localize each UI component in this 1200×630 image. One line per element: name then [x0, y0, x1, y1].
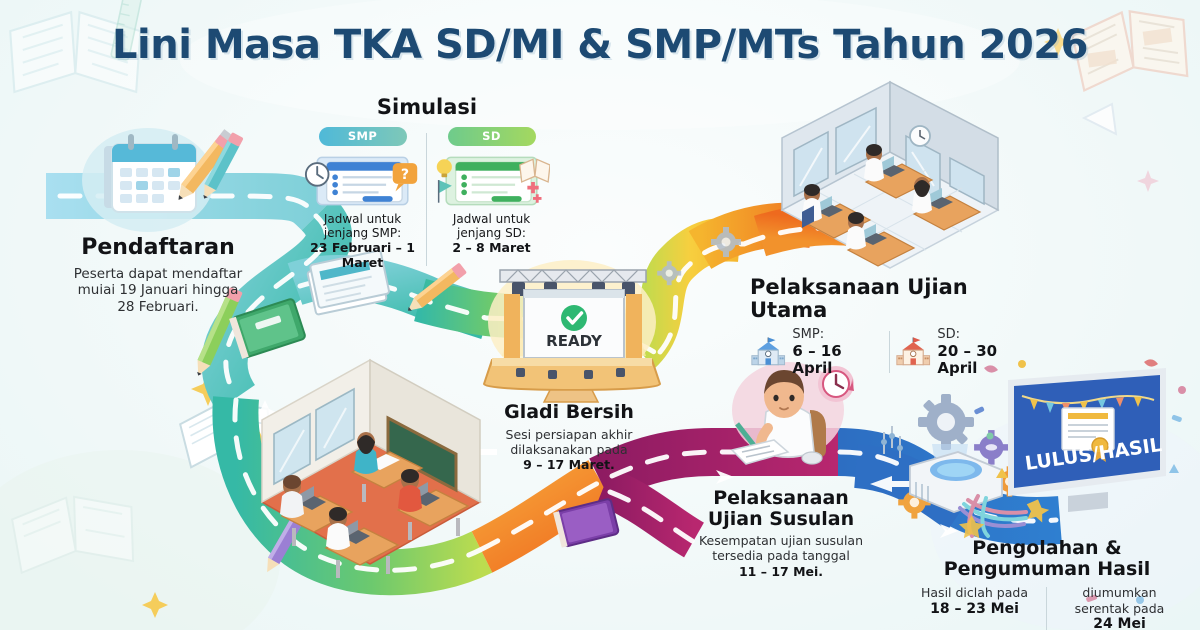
hasil-left-caption: Hasil diclah pada — [921, 585, 1028, 600]
gear-icon — [657, 227, 741, 285]
hasil-heading-line-2: Pengumuman Hasil — [944, 558, 1151, 580]
pendaftaran-line-1: Peserta dapat mendaftar — [74, 266, 242, 282]
svg-text:LULUS/HASIL: LULUS/HASIL — [1024, 434, 1164, 475]
clock-icon — [306, 163, 329, 186]
pencil-icon — [262, 508, 308, 575]
data-processing-illustration — [881, 394, 1026, 536]
gear-icon — [898, 486, 930, 518]
hasil-right-caption-line-1: diumumkan — [1082, 585, 1156, 600]
utama-heading: Pelaksanaan Ujian Utama — [750, 276, 1050, 321]
utama-sd-label: SD: 20 – 30 April — [937, 328, 1038, 376]
gladi-heading: Gladi Bersih — [474, 402, 664, 423]
hasil-heading-line-1: Pengolahan & — [972, 537, 1121, 559]
simulasi-cards: SMP — [298, 127, 556, 271]
utama-items: SMP: 6 – 16 April — [750, 328, 1050, 376]
section-ujian-utama: Pelaksanaan Ujian Utama SMP: — [750, 276, 1050, 376]
gear-icon — [918, 394, 974, 450]
hasil-right-date: 24 Mei — [1093, 616, 1146, 630]
hasil-left-date: 18 – 23 Mei — [930, 601, 1019, 617]
susulan-date: 11 – 17 Mei. — [739, 564, 823, 579]
hasil-right: diumumkan serentak pada 24 Mei — [1047, 585, 1192, 630]
smp-caption-line-2: jenjang SMP: — [324, 226, 401, 240]
sd-caption-line-1: Jadwal untuk — [453, 212, 530, 226]
susulan-heading-line-1: Pelaksanaan — [713, 487, 849, 509]
section-pengolahan-hasil: Pengolahan & Pengumuman Hasil Hasil dicl… — [902, 538, 1192, 630]
pencil-icon — [404, 262, 467, 315]
hasil-details: Hasil diclah pada 18 – 23 Mei diumumkan … — [902, 585, 1192, 630]
exam-room-illustration — [782, 82, 998, 268]
pendaftaran-heading: Pendaftaran — [34, 236, 282, 260]
smp-caption-line-1: Jadwal untuk — [324, 212, 401, 226]
simulasi-smp-illustration: ? — [304, 152, 421, 208]
gear-icon — [974, 430, 1009, 465]
utama-item-sd: SD: 20 – 30 April — [895, 328, 1050, 376]
simulasi-card-smp: SMP — [298, 127, 427, 271]
sd-caption-line-2: jenjang SD: — [457, 226, 526, 240]
pendaftaran-line-3: 28 Februari. — [117, 299, 198, 315]
badge-sd: SD — [448, 127, 536, 146]
simulasi-sd-illustration — [433, 152, 550, 208]
svg-text:?: ? — [401, 167, 409, 183]
school-building-icon — [895, 335, 931, 369]
smp-date: 23 Februari – 1 Maret — [304, 240, 421, 270]
student-writing-illustration — [732, 362, 854, 464]
simulasi-card-sd: SD — [427, 127, 556, 256]
susulan-heading: Pelaksanaan Ujian Susulan — [672, 488, 890, 529]
utama-smp-label: SMP: 6 – 16 April — [792, 328, 883, 376]
hasil-right-caption-line-2: serentak pada — [1075, 601, 1165, 616]
simulasi-heading: Simulasi — [298, 96, 556, 119]
hasil-heading: Pengolahan & Pengumuman Hasil — [902, 538, 1192, 579]
hasil-left: Hasil diclah pada 18 – 23 Mei — [902, 585, 1047, 630]
sd-date: 2 – 8 Maret — [433, 240, 550, 255]
pendaftaran-description: Peserta dapat mendaftar muiai 19 Januari… — [34, 266, 282, 315]
section-gladi-bersih: Gladi Bersih Sesi persiapan akhir dilaks… — [474, 402, 664, 472]
stage-illustration: READY — [484, 260, 660, 402]
result-monitor-illustration: LULUS/HASIL — [974, 359, 1186, 522]
pendaftaran-line-2: muiai 19 Januari hingga — [78, 282, 239, 298]
open-book-icon — [178, 396, 275, 468]
open-book-icon — [10, 491, 137, 573]
gladi-date: 9 – 17 Maret. — [523, 457, 615, 472]
classroom-illustration — [262, 360, 480, 578]
utama-smp-date: 6 – 16 April — [792, 343, 883, 377]
book-icon — [553, 498, 619, 547]
school-building-icon — [750, 335, 786, 369]
pencil-icon — [198, 132, 243, 202]
utama-smp-level: SMP: — [792, 327, 824, 342]
section-pendaftaran: Pendaftaran Peserta dapat mendaftar muia… — [34, 236, 282, 315]
susulan-line-1: Kesempatan ujian susulan — [699, 533, 863, 548]
simulasi-sd-caption: Jadwal untuk jenjang SD: 2 – 8 Maret — [433, 212, 550, 256]
susulan-description: Kesempatan ujian susulan tersedia pada t… — [672, 533, 890, 579]
utama-sd-level: SD: — [937, 327, 960, 342]
utama-sd-date: 20 – 30 April — [937, 343, 1038, 377]
susulan-line-2: tersedia pada tanggal — [712, 548, 850, 563]
section-simulasi: Simulasi SMP — [298, 96, 556, 270]
pencil-icon — [173, 129, 237, 204]
gear-icon — [994, 466, 1024, 496]
susulan-heading-line-2: Ujian Susulan — [708, 508, 854, 530]
utama-item-smp: SMP: 6 – 16 April — [750, 328, 895, 376]
gladi-line-1: Sesi persiapan akhir — [506, 427, 633, 442]
gladi-line-2: dilaksanakan pada — [510, 442, 627, 457]
infographic-canvas: READY — [0, 0, 1200, 630]
simulasi-smp-caption: Jadwal untuk jenjang SMP: 23 Februari – … — [304, 212, 421, 271]
section-ujian-susulan: Pelaksanaan Ujian Susulan Kesempatan uji… — [672, 488, 890, 579]
badge-smp: SMP — [319, 127, 407, 146]
calendar-icon — [82, 128, 236, 232]
svg-text:READY: READY — [546, 332, 603, 350]
page-title: Lini Masa TKA SD/MI & SMP/MTs Tahun 2026 — [0, 22, 1200, 68]
gladi-description: Sesi persiapan akhir dilaksanakan pada 9… — [474, 427, 664, 473]
